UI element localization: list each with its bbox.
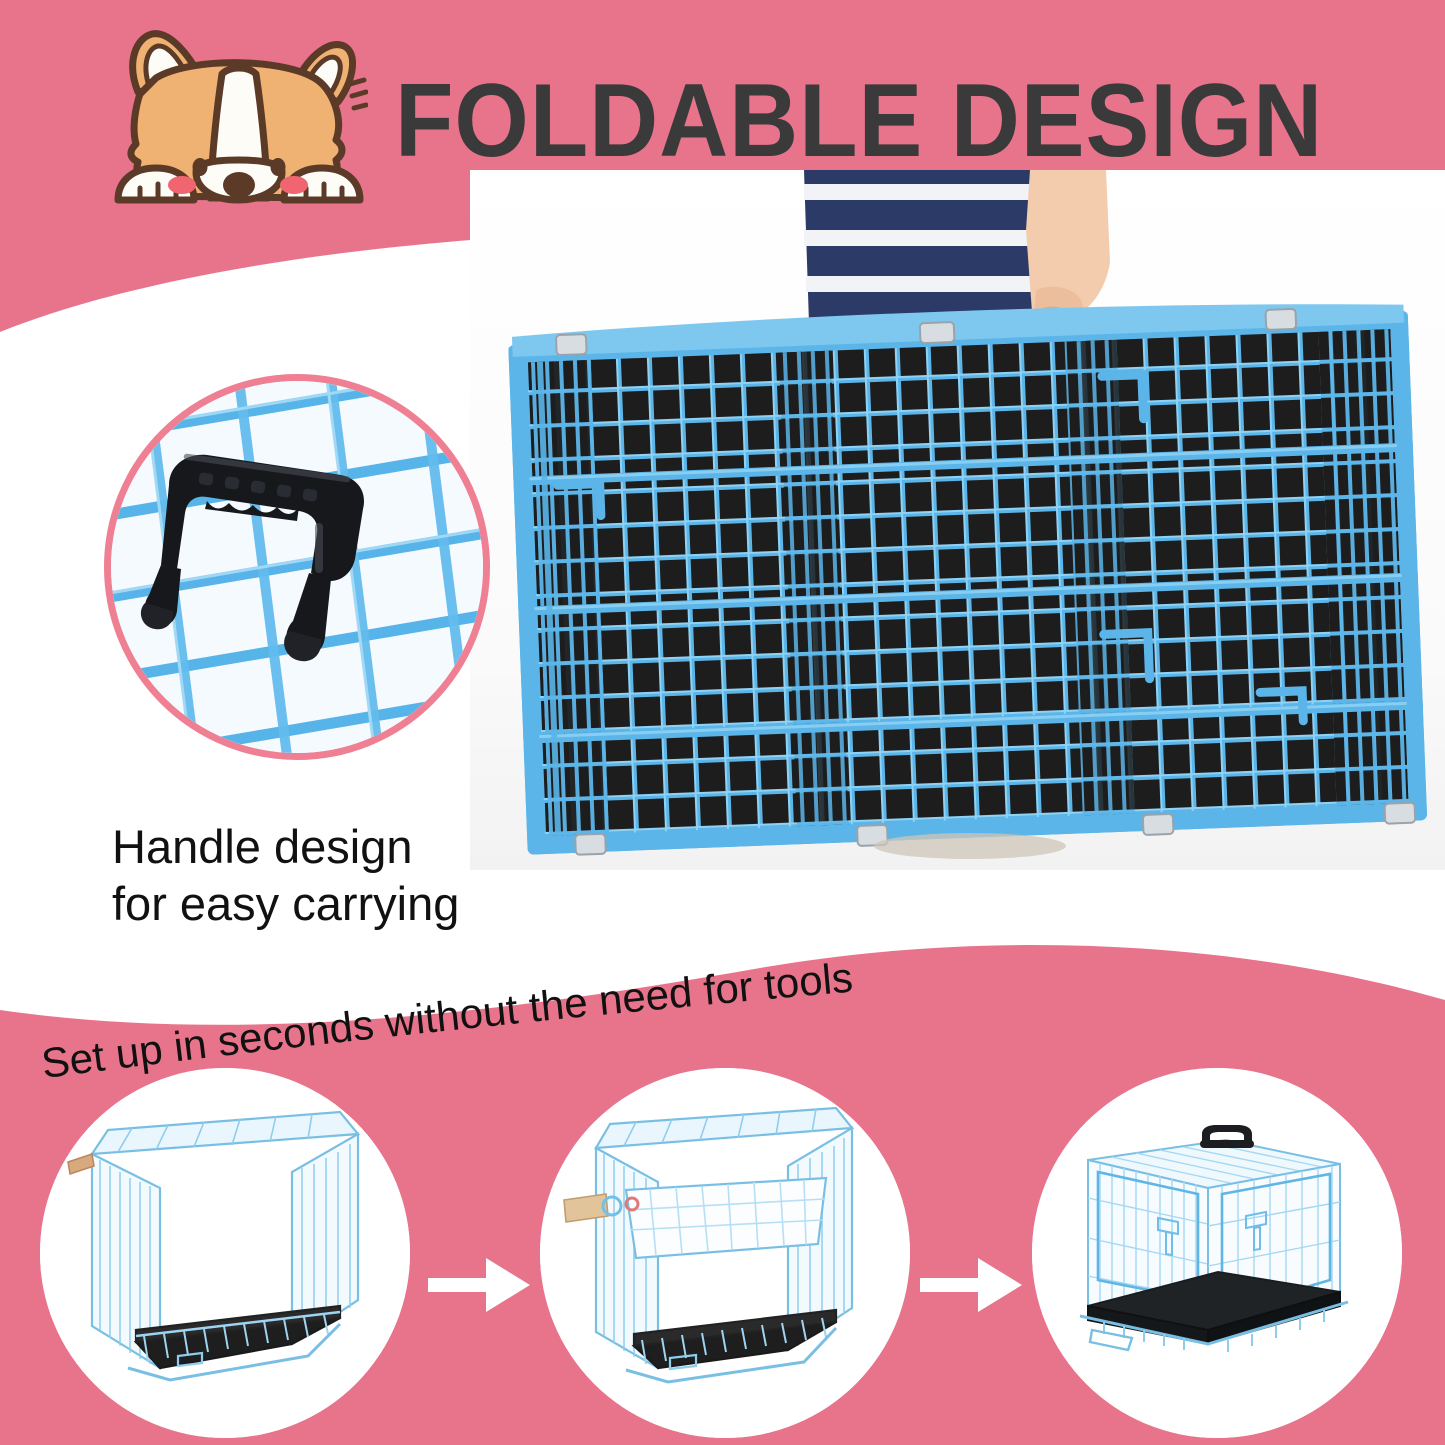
handle-caption-line-2: for easy carrying [112,875,532,932]
poster-canvas: FOLDABLE DESIGN [0,0,1445,1445]
page-title: FOLDABLE DESIGN [395,58,1241,183]
folded-crate [508,294,1428,859]
step-assembled-crate [1032,1068,1402,1438]
handle-caption-line-1: Handle design [112,818,532,875]
handle-closeup-illustration [104,374,490,760]
handle-closeup-circle [104,374,490,760]
step-open-frame [40,1068,410,1438]
step-2-illustration [540,1068,910,1438]
step-fold-panel [540,1068,910,1438]
assembly-steps [0,1060,1445,1445]
step-3-illustration [1032,1068,1402,1438]
hero-photo-person-carrying-crate [470,170,1445,870]
step-1-illustration [40,1068,410,1438]
handle-caption: Handle design for easy carrying [112,818,532,933]
hero-illustration [470,170,1445,870]
arrow-right-icon-2 [920,1252,1024,1318]
corgi-dog-logo [96,22,368,222]
arrow-right-icon-1 [428,1252,532,1318]
